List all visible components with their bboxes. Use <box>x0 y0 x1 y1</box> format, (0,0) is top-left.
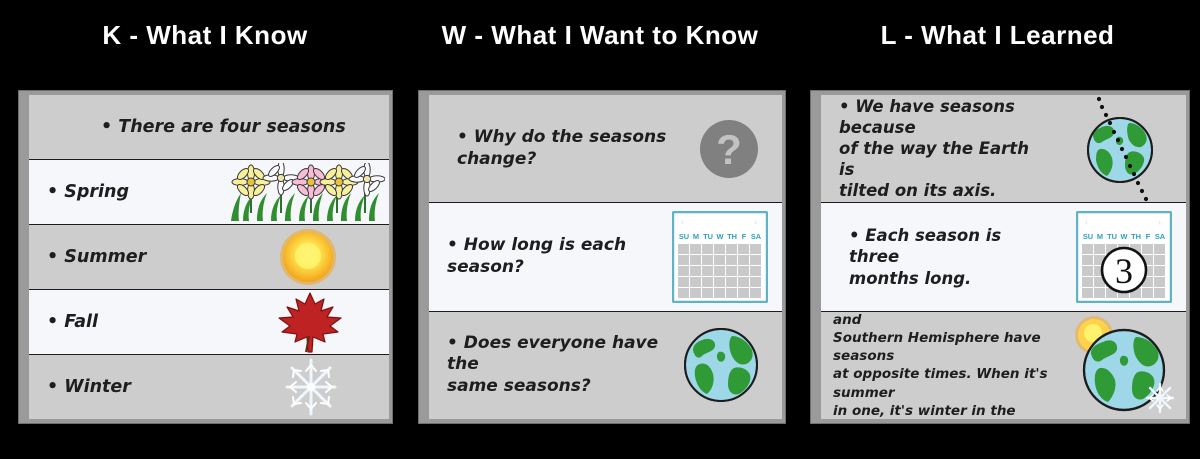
svg-text:M: M <box>693 232 699 241</box>
svg-text:SU: SU <box>679 232 689 241</box>
kwl-table-learned: • We have seasons because of the way the… <box>810 90 1190 424</box>
svg-text:M: M <box>1097 232 1103 241</box>
table-row: • The Northern Hemisphere and Southern H… <box>821 312 1186 419</box>
row-text: • We have seasons because of the way the… <box>821 96 1056 202</box>
svg-text:TU: TU <box>703 232 713 241</box>
table-row: • We have seasons because of the way the… <box>821 95 1186 203</box>
row-text: • How long is each season? <box>429 235 679 279</box>
svg-text:‹: ‹ <box>1085 217 1088 227</box>
row-text: • Why do the seasons change? <box>429 127 679 171</box>
calendar-badge-number: 3 <box>1115 251 1133 291</box>
tilted-earth-axis-icon <box>1072 95 1168 203</box>
earth-globe-icon <box>682 326 760 404</box>
svg-text:TH: TH <box>1131 232 1141 241</box>
svg-text:SA: SA <box>1155 232 1166 241</box>
row-text: • There are four seasons <box>29 116 354 138</box>
svg-text:W: W <box>717 232 724 241</box>
table-row: • Each season is three months long. ‹ › … <box>821 203 1186 311</box>
calendar-icon: ‹ › SUMTU WTHFSA <box>672 211 768 303</box>
table-row: • Summer <box>29 225 389 290</box>
column-title-want-to-know: W - What I Want to Know <box>405 20 795 51</box>
row-text: • The Northern Hemisphere and Southern H… <box>821 312 1071 419</box>
svg-text:‹: ‹ <box>681 217 684 227</box>
earth-sun-snowflake-icon <box>1060 312 1180 418</box>
svg-text:›: › <box>1158 217 1161 227</box>
row-text: • Each season is three months long. <box>821 225 1056 288</box>
svg-text:SA: SA <box>751 232 762 241</box>
row-text: • Spring <box>29 181 137 203</box>
svg-text:TU: TU <box>1107 232 1117 241</box>
table-row: • How long is each season? ‹ › SUMTU WTH… <box>429 203 782 311</box>
table-row: • Fall <box>29 290 389 355</box>
svg-text:F: F <box>1146 232 1151 241</box>
row-text: • Winter <box>29 376 139 398</box>
calendar-three-icon: ‹ › SUMTU WTHFSA <box>1076 211 1172 303</box>
sun-icon <box>275 226 341 288</box>
kwl-chart-slide: K - What I Know W - What I Want to Know … <box>0 0 1200 459</box>
snowflake-icon <box>275 355 347 419</box>
svg-text:SU: SU <box>1083 232 1093 241</box>
table-row: • Why do the seasons change? ? <box>429 95 782 203</box>
question-mark-icon: ? <box>698 118 760 180</box>
svg-text:TH: TH <box>727 232 737 241</box>
table-row: • Does everyone have the same seasons? <box>429 312 782 419</box>
table-row: • Winter <box>29 355 389 419</box>
column-title-know: K - What I Know <box>10 20 400 51</box>
svg-text:›: › <box>754 217 757 227</box>
svg-text:F: F <box>742 232 747 241</box>
flowers-icon <box>227 163 385 221</box>
column-title-learned: L - What I Learned <box>800 20 1195 51</box>
table-row: • Spring <box>29 160 389 225</box>
svg-text:W: W <box>1121 232 1128 241</box>
svg-text:?: ? <box>716 126 742 173</box>
maple-leaf-icon <box>275 290 345 354</box>
kwl-table-want-to-know: • Why do the seasons change? ? • How lon… <box>418 90 786 424</box>
row-text: • Fall <box>29 311 106 333</box>
row-text: • Summer <box>29 246 154 268</box>
table-row: • There are four seasons <box>29 95 389 160</box>
kwl-table-know: • There are four seasons • Spring <box>18 90 393 424</box>
row-text: • Does everyone have the same seasons? <box>429 333 679 398</box>
